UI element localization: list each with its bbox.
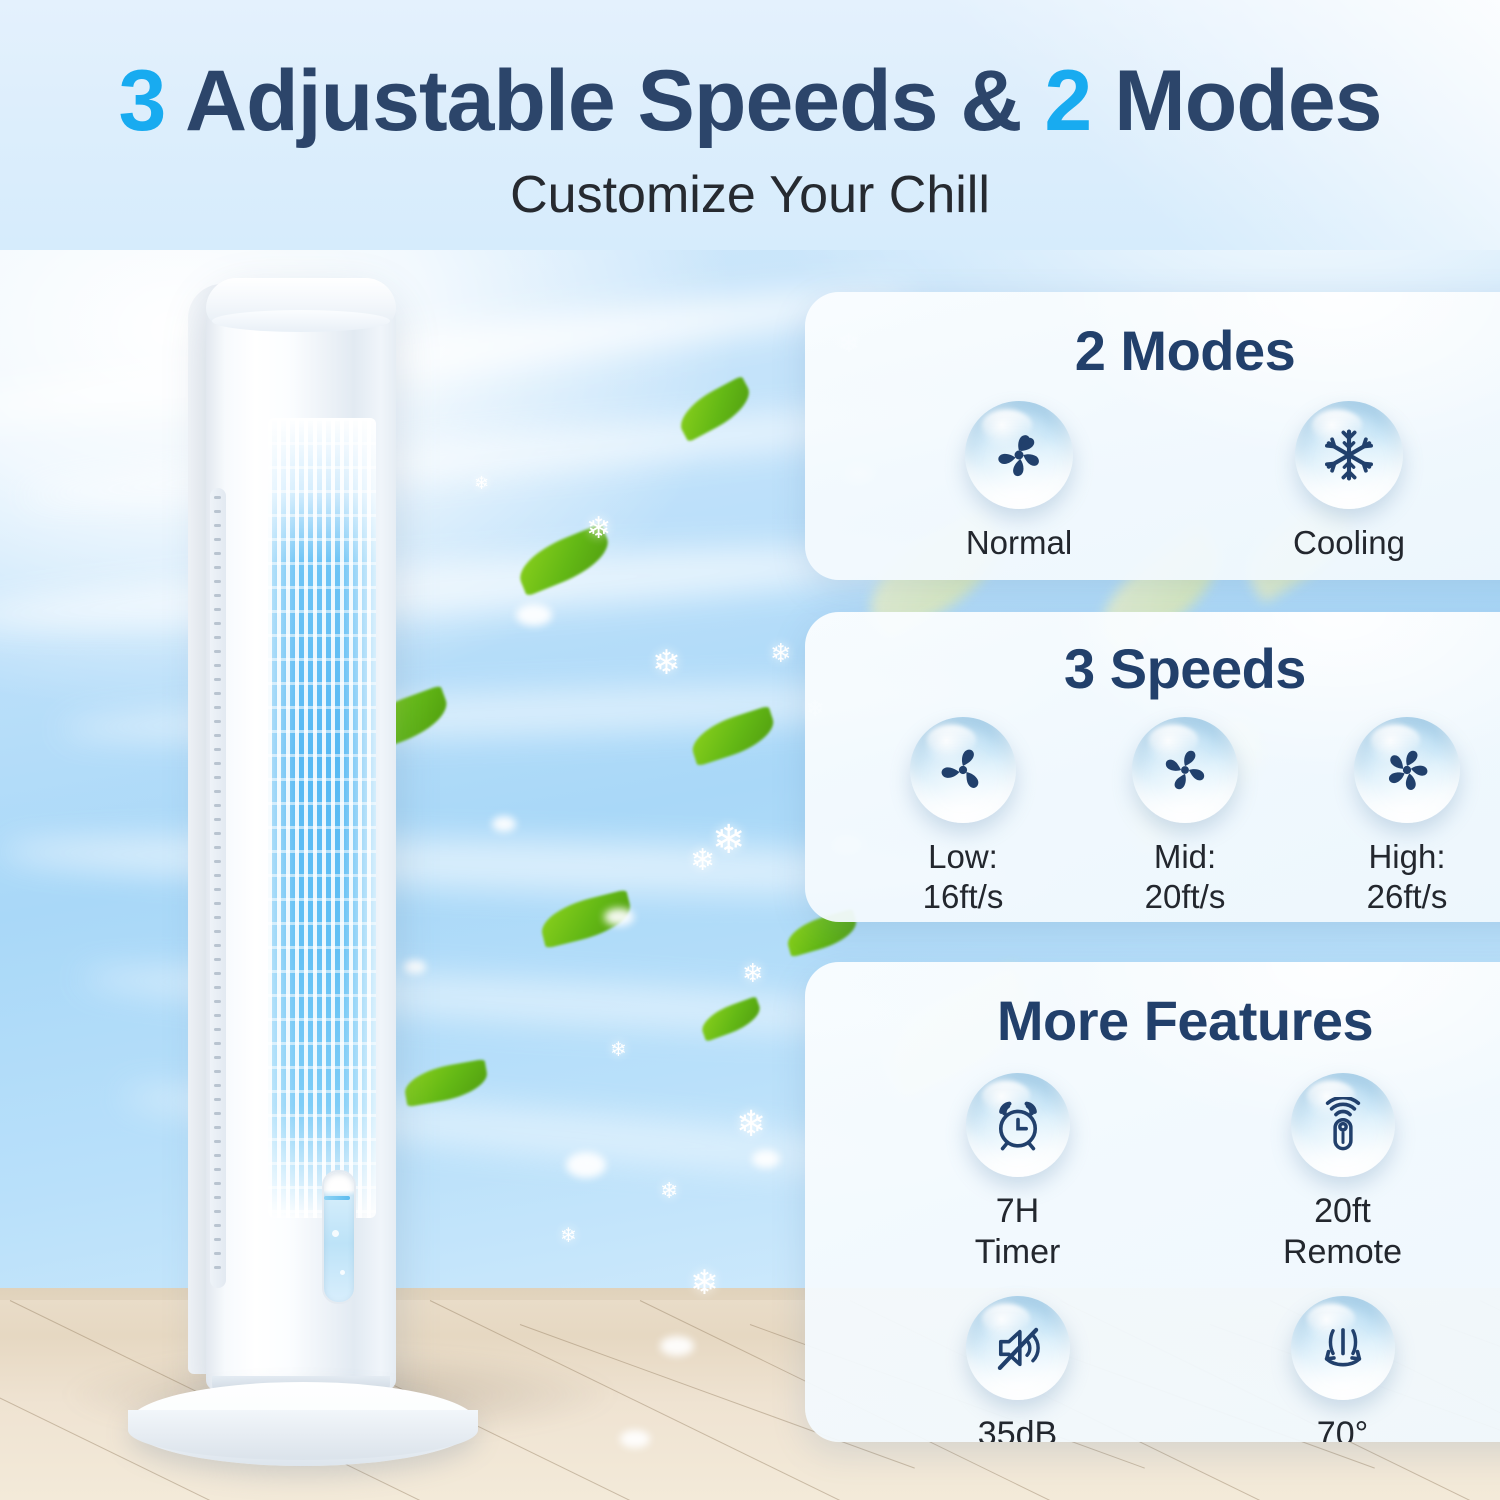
snowflake-decoration: ❄	[560, 1226, 577, 1246]
feature-item-oscillation[interactable]: 70° Oscilation	[1180, 1296, 1500, 1442]
snowflake-decoration: ❄	[660, 1180, 678, 1202]
speed-label-high: High: 26ft/s	[1367, 837, 1448, 918]
snowflake-decoration: ❄	[652, 646, 681, 680]
title-text: Modes	[1091, 53, 1381, 149]
mode-item-cooling[interactable]: Cooling	[1293, 401, 1405, 563]
feature-label-oscillation: 70° Oscilation	[1268, 1414, 1417, 1442]
snowflake-decoration: ❄	[736, 1106, 766, 1142]
fan-top-lip	[212, 310, 390, 332]
feature-label-remote: 20ft Remote	[1283, 1191, 1402, 1274]
card-features: More Features 7H Timer	[805, 962, 1500, 1442]
mute-speaker-icon	[966, 1296, 1070, 1400]
fan-5-blade-icon	[1354, 717, 1460, 823]
feature-item-remote[interactable]: 20ft Remote	[1180, 1073, 1500, 1274]
card-speeds: 3 Speeds Low: 16ft/s	[805, 612, 1500, 922]
title-accent-number: 2	[1044, 53, 1091, 149]
bokeh-decoration	[620, 1430, 650, 1448]
speed-label-mid: Mid: 20ft/s	[1145, 837, 1226, 918]
card-modes-items: Normal	[805, 401, 1500, 563]
snowflake-decoration: ❄	[742, 960, 764, 986]
bokeh-decoration	[604, 908, 634, 926]
feature-label-timer: 7H Timer	[975, 1191, 1061, 1274]
snowflake-decoration: ❄	[586, 514, 611, 544]
header: 3 Adjustable Speeds & 2 Modes Customize …	[0, 0, 1500, 225]
snowflake-icon	[1295, 401, 1403, 509]
bokeh-decoration	[660, 1336, 694, 1356]
snowflake-decoration: ❄	[690, 1266, 719, 1300]
mode-label-normal: Normal	[966, 523, 1072, 563]
snowflake-decoration: ❄	[610, 1040, 627, 1060]
infographic-canvas: ❄❄❄❄❄❄❄❄❄❄❄❄❄❄ 3 Adjustable Speeds & 2 M…	[0, 0, 1500, 1500]
feature-label-noise: 35dB Low Noise	[938, 1414, 1097, 1442]
fan-3-blade-icon	[910, 717, 1016, 823]
water-level-line	[324, 1196, 350, 1200]
page-subtitle: Customize Your Chill	[0, 151, 1500, 225]
speed-item-mid[interactable]: Mid: 20ft/s	[1132, 717, 1238, 918]
card-speeds-items: Low: 16ft/s Mid: 20ft/s	[805, 717, 1500, 918]
water-level-window	[322, 1170, 356, 1304]
title-accent-number: 3	[119, 53, 166, 149]
speed-item-high[interactable]: High: 26ft/s	[1354, 717, 1460, 918]
mode-label-cooling: Cooling	[1293, 523, 1405, 563]
grille-gloss	[268, 418, 376, 1218]
oscillation-icon	[1291, 1296, 1395, 1400]
title-text: Adjustable Speeds &	[165, 53, 1044, 149]
page-title: 3 Adjustable Speeds & 2 Modes	[0, 0, 1500, 151]
fan-5-blade-icon	[965, 401, 1073, 509]
remote-control-icon	[1291, 1073, 1395, 1177]
bokeh-decoration	[566, 1152, 606, 1178]
bokeh-decoration	[752, 1150, 780, 1168]
card-features-items: 7H Timer 20ft Remote	[805, 1073, 1500, 1442]
snowflake-decoration: ❄	[770, 640, 792, 666]
card-features-title: More Features	[805, 962, 1500, 1053]
speed-label-low: Low: 16ft/s	[923, 837, 1004, 918]
tower-fan-product-image	[120, 270, 540, 1460]
speed-item-low[interactable]: Low: 16ft/s	[910, 717, 1016, 918]
card-modes-title: 2 Modes	[805, 292, 1500, 383]
feature-item-noise[interactable]: 35dB Low Noise	[855, 1296, 1180, 1442]
fan-4-blade-icon	[1132, 717, 1238, 823]
card-modes: 2 Modes Normal	[805, 292, 1500, 580]
alarm-clock-icon	[966, 1073, 1070, 1177]
snowflake-decoration: ❄	[690, 846, 715, 876]
fan-side-vent	[210, 488, 226, 1288]
feature-item-timer[interactable]: 7H Timer	[855, 1073, 1180, 1274]
mode-item-normal[interactable]: Normal	[965, 401, 1073, 563]
card-speeds-title: 3 Speeds	[805, 612, 1500, 701]
snowflake-decoration: ❄	[712, 820, 746, 860]
